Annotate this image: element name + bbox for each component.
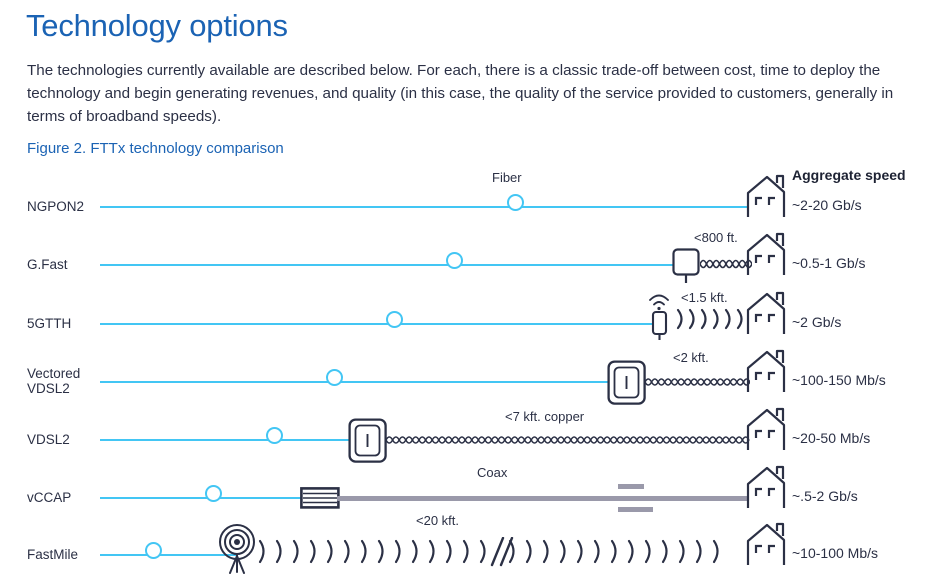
house-icon xyxy=(744,290,790,341)
fiber-node-gfast xyxy=(446,252,463,269)
row-label-vccap: vCCAP xyxy=(27,490,71,505)
house-icon xyxy=(744,231,790,282)
fiber-line-vdsl2 xyxy=(100,439,352,441)
house-icon xyxy=(744,348,790,399)
segment-label-5gtth: <1.5 kft. xyxy=(681,290,728,305)
row-label-gfast: G.Fast xyxy=(27,257,68,272)
fiber-node-vectored-vdsl2 xyxy=(326,369,343,386)
speed-vectored-vdsl2: ~100-150 Mb/s xyxy=(792,372,886,388)
cmts-node-icon xyxy=(300,487,340,514)
wireless-arcs-long-icon xyxy=(258,537,738,572)
fiber-node-fastmile xyxy=(145,542,162,559)
fiber-line-ngpon2 xyxy=(100,206,748,208)
row-label-fastmile: FastMile xyxy=(27,547,78,562)
fiber-line-vectored-vdsl2 xyxy=(100,381,612,383)
speed-ngpon2: ~2-20 Gb/s xyxy=(792,197,862,213)
fiber-node-ngpon2 xyxy=(507,194,524,211)
row-label-vdsl2: VDSL2 xyxy=(27,432,70,447)
fiber-node-5gtth xyxy=(386,311,403,328)
segment-label-vdsl2: <7 kft. copper xyxy=(505,409,584,424)
segment-label-vectored-vdsl2: <2 kft. xyxy=(673,350,709,365)
row-gfast: G.Fast <800 ft. xyxy=(0,225,939,283)
speed-5gtth: ~2 Gb/s xyxy=(792,314,841,330)
copper-twisted-pair-icon xyxy=(386,433,750,452)
row-5gtth: 5GTTH xyxy=(0,284,939,342)
row-vectored-vdsl2: Vectored VDSL2 <2 kft. xyxy=(0,342,939,400)
copper-twisted-pair-icon xyxy=(645,375,750,394)
segment-label-gfast: <800 ft. xyxy=(694,230,738,245)
row-label-ngpon2: NGPON2 xyxy=(27,199,84,214)
fttx-comparison-diagram: Aggregate speed Fiber Coax NGPON2 ~2-20 … xyxy=(0,0,939,572)
house-icon xyxy=(744,406,790,457)
fiber-line-vccap xyxy=(100,497,302,499)
row-vdsl2: VDSL2 <7 kft. copper xyxy=(0,400,939,458)
fiber-node-vdsl2 xyxy=(266,427,283,444)
row-label-5gtth: 5GTTH xyxy=(27,316,71,331)
house-icon xyxy=(744,173,790,224)
dpu-box-icon xyxy=(672,248,702,289)
fiber-line-gfast xyxy=(100,264,675,266)
fiber-node-vccap xyxy=(205,485,222,502)
house-icon xyxy=(744,464,790,515)
fiber-line-5gtth xyxy=(100,323,655,325)
house-icon xyxy=(744,521,790,572)
speed-fastmile: ~10-100 Mb/s xyxy=(792,545,878,561)
coax-tap-dash-upper xyxy=(618,484,644,489)
coax-tap-dash-lower xyxy=(618,507,653,512)
segment-label-fastmile: <20 kft. xyxy=(416,513,459,528)
antenna-tower-icon xyxy=(215,518,259,579)
speed-vdsl2: ~20-50 Mb/s xyxy=(792,430,870,446)
speed-gfast: ~0.5-1 Gb/s xyxy=(792,255,866,271)
row-vccap: vCCAP ~.5-2 Gb/s xyxy=(0,458,939,516)
row-ngpon2: NGPON2 ~2-20 Gb/s xyxy=(0,167,939,225)
speed-vccap: ~.5-2 Gb/s xyxy=(792,488,858,504)
wifi-cpe-icon xyxy=(646,288,674,345)
row-fastmile: FastMile xyxy=(0,515,939,573)
row-label-vectored-vdsl2: Vectored VDSL2 xyxy=(27,366,80,396)
coax-line-vccap xyxy=(337,496,748,501)
wireless-arcs-icon xyxy=(676,306,744,337)
